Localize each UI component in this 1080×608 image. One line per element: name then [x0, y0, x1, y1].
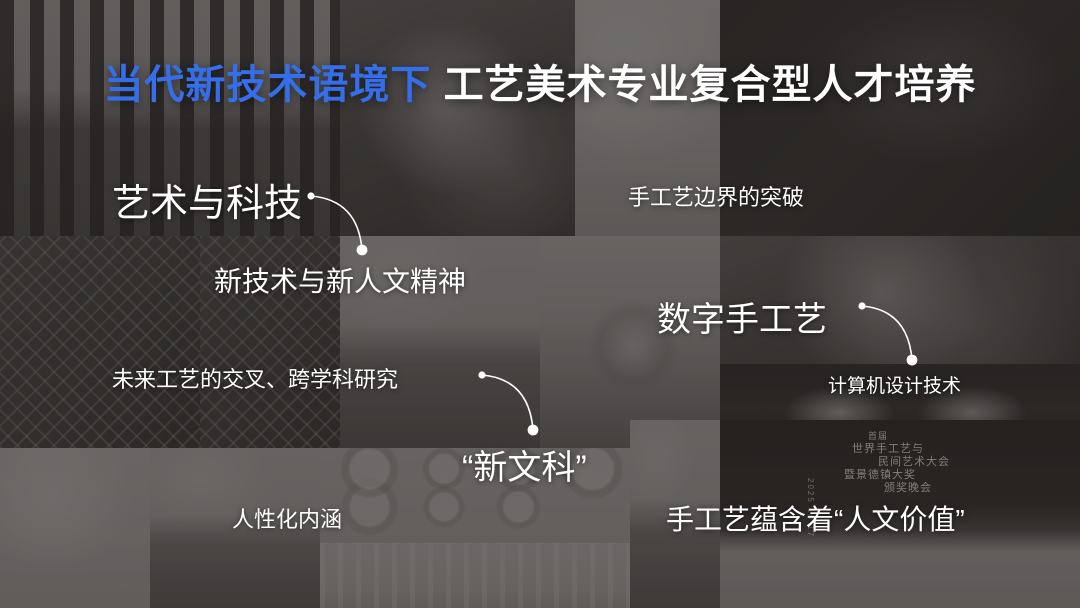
poster-line-1: 首届 [838, 430, 1018, 443]
poster-line-2: 世界手工艺与 [838, 443, 1018, 456]
title-highlight: 当代新技术语境下 [103, 63, 431, 107]
label-humanistic-value: 手工艺蕴含着“人文价值” [666, 498, 965, 538]
award-poster-text: 首届 世界手工艺与 民间艺术大会 暨景德镇大奖 颁奖晚会 [838, 430, 1018, 495]
label-humanized-connotation: 人性化内涵 [232, 502, 342, 534]
label-digital-craft: 数字手工艺 [657, 292, 827, 341]
poster-line-5: 颁奖晚会 [838, 482, 1018, 495]
page-title: 当代新技术语境下 工艺美术专业复合型人才培养 [0, 52, 1080, 110]
label-future-craft-research: 未来工艺的交叉、跨学科研究 [112, 362, 398, 394]
label-new-tech-new-humanities: 新技术与新人文精神 [214, 260, 466, 300]
label-craft-boundary: 手工艺边界的突破 [628, 180, 804, 212]
poster-line-4: 暨景德镇大奖 [838, 469, 1018, 482]
label-computer-design-tech: 计算机设计技术 [828, 371, 961, 398]
poster-line-3: 民间艺术大会 [838, 456, 1018, 469]
title-main: 工艺美术专业复合型人才培养 [444, 63, 977, 107]
presentation-slide: 首届 世界手工艺与 民间艺术大会 暨景德镇大奖 颁奖晚会 2025 10 17 … [0, 0, 1080, 608]
label-art-and-technology: 艺术与科技 [112, 172, 302, 227]
label-new-liberal-arts: “新文科” [462, 440, 587, 489]
